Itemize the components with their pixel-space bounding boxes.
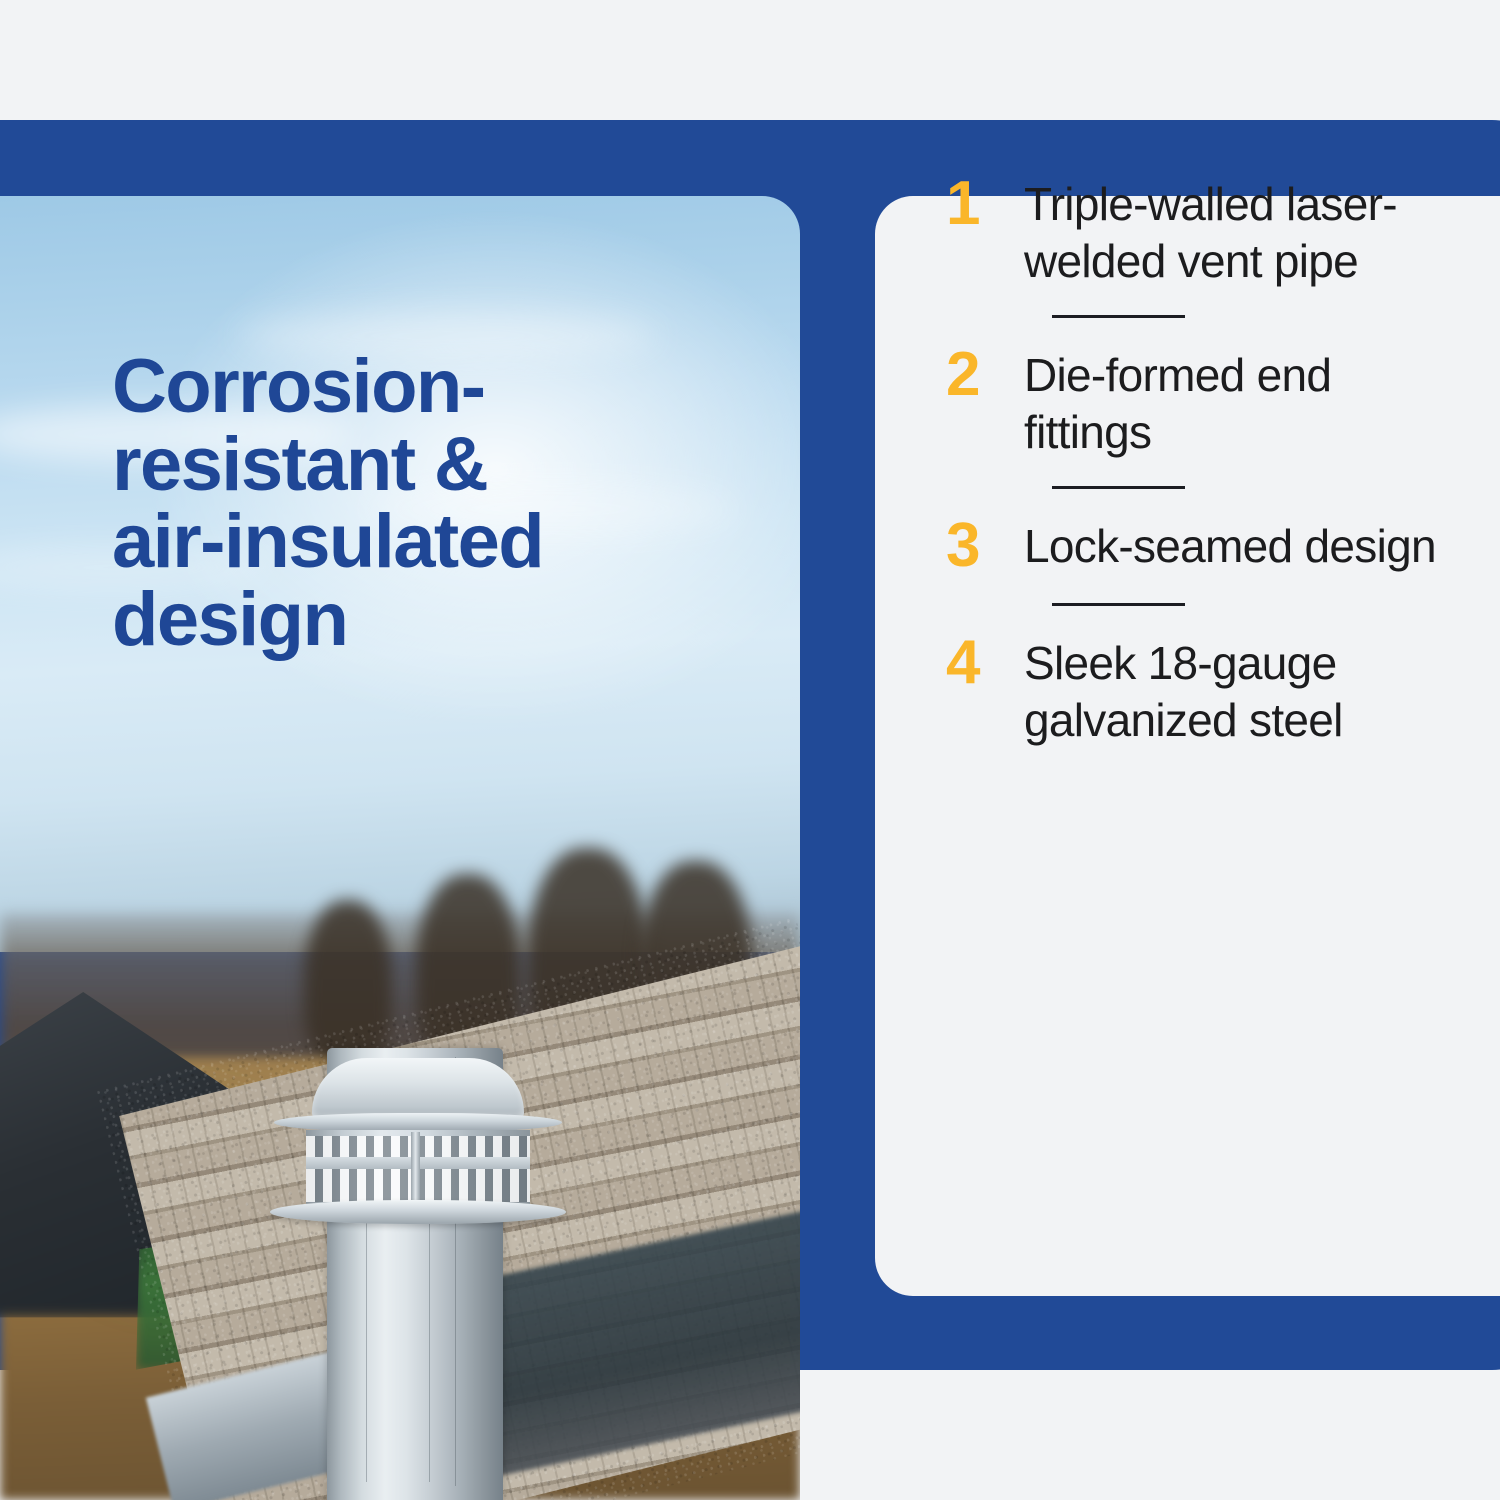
feature-item-1: 1 Triple-walled laser-welded vent pipe xyxy=(946,173,1466,289)
feature-label-3: Lock-seamed design xyxy=(1024,515,1466,575)
cap-center-post xyxy=(411,1132,420,1208)
feature-number-2: 2 xyxy=(946,344,1024,406)
headline-line-2: resistant & xyxy=(112,426,772,504)
vent-cap xyxy=(268,1058,568,1233)
headline-line-4: design xyxy=(112,581,772,659)
cap-dome xyxy=(312,1058,524,1120)
feature-divider-3 xyxy=(1052,603,1185,606)
feature-list: 1 Triple-walled laser-welded vent pipe 2… xyxy=(946,173,1466,748)
feature-label-4: Sleek 18-gauge galvanized steel xyxy=(1024,632,1466,748)
headline-line-1: Corrosion- xyxy=(112,348,772,426)
headline-line-3: air-insulated xyxy=(112,503,772,581)
feature-label-2: Die-formed end fittings xyxy=(1024,344,1466,460)
feature-label-1: Triple-walled laser-welded vent pipe xyxy=(1024,173,1466,289)
feature-item-3: 3 Lock-seamed design xyxy=(946,515,1466,577)
feature-item-4: 4 Sleek 18-gauge galvanized steel xyxy=(946,632,1466,748)
page-title: Corrosion- resistant & air-insulated des… xyxy=(112,348,772,658)
feature-number-3: 3 xyxy=(946,515,1024,577)
feature-divider-2 xyxy=(1052,486,1185,489)
feature-number-4: 4 xyxy=(946,632,1024,694)
cap-lower-brim xyxy=(270,1200,566,1224)
feature-number-1: 1 xyxy=(946,173,1024,235)
feature-divider-1 xyxy=(1052,315,1185,318)
infographic-canvas: Corrosion- resistant & air-insulated des… xyxy=(0,0,1500,1500)
feature-item-2: 2 Die-formed end fittings xyxy=(946,344,1466,460)
